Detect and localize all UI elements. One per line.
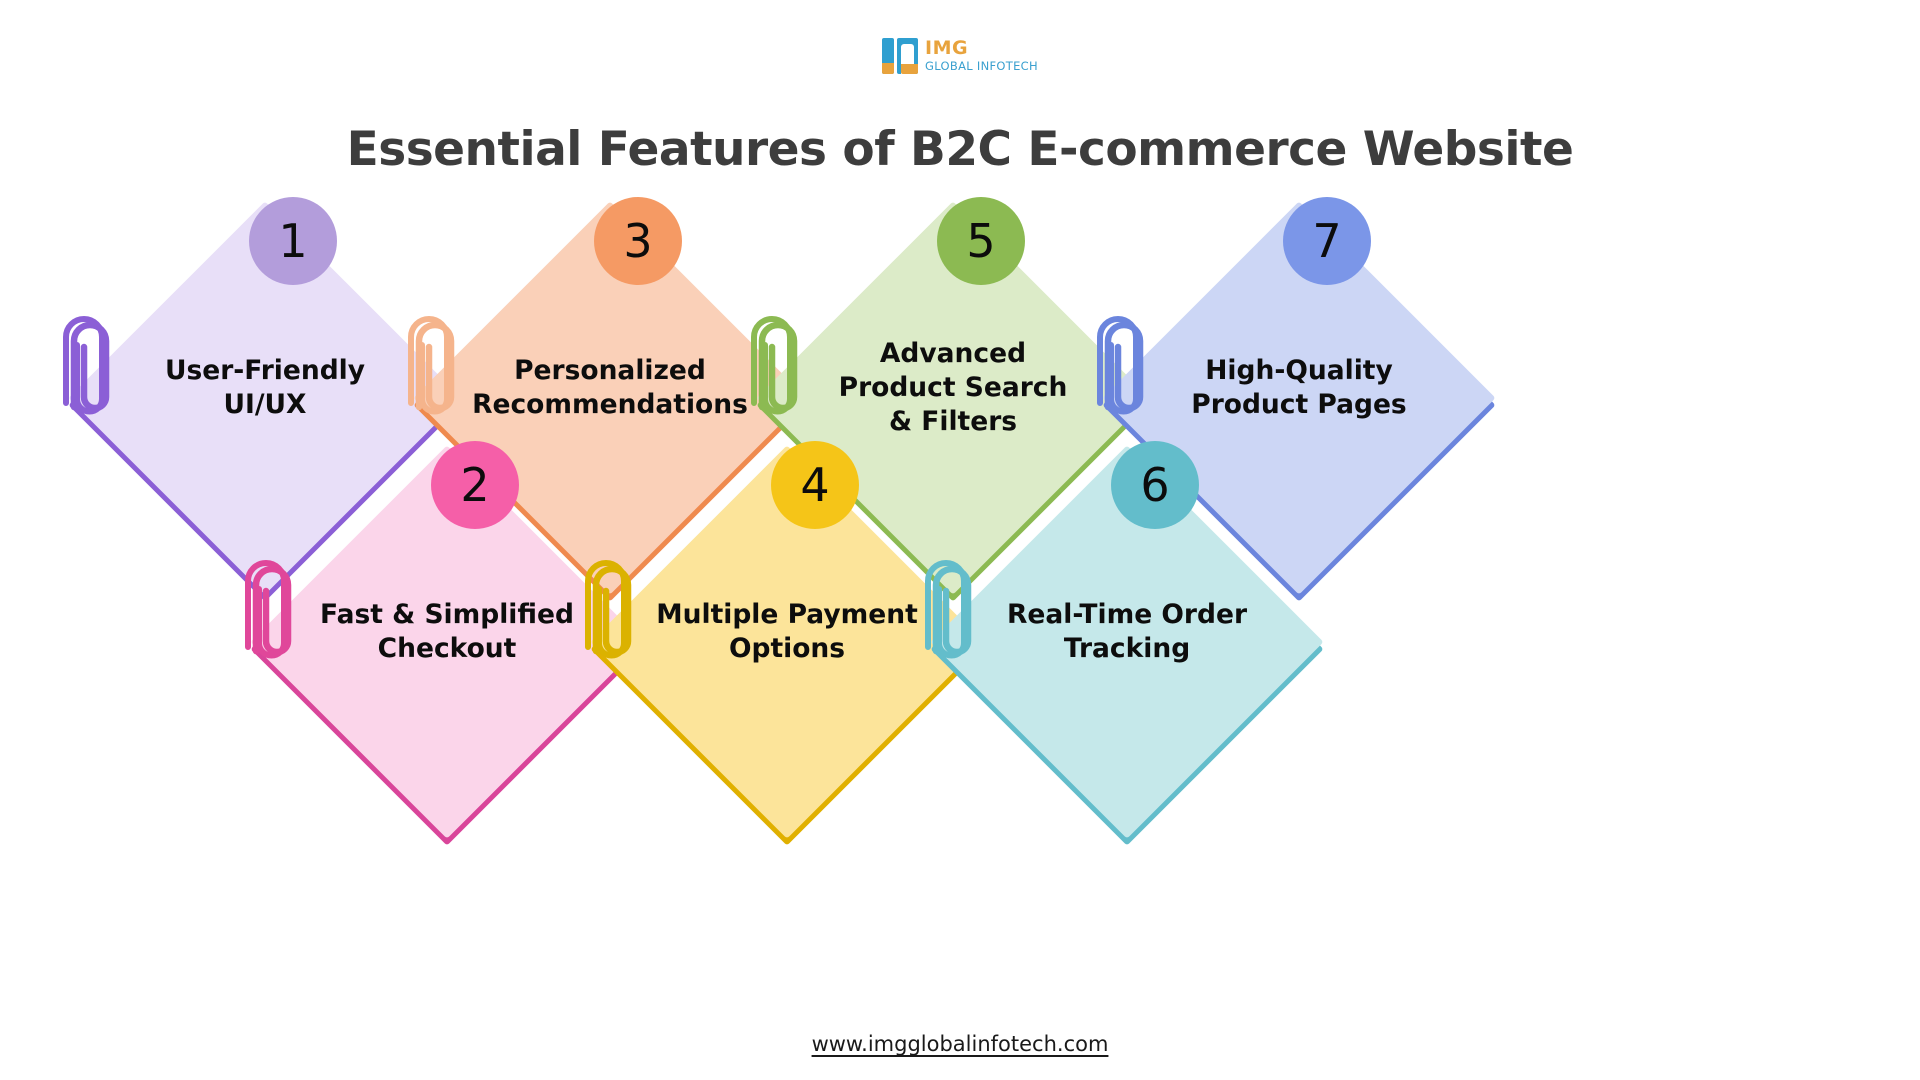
brand-name: IMG bbox=[925, 39, 1038, 58]
card-number-badge: 5 bbox=[937, 197, 1025, 285]
card-label: Advanced Product Search & Filters bbox=[803, 337, 1103, 439]
brand-tagline: GLOBAL INFOTECH bbox=[925, 61, 1038, 73]
infographic-canvas: IMG GLOBAL INFOTECH Essential Features o… bbox=[0, 0, 1920, 1080]
card-number: 3 bbox=[623, 214, 652, 268]
card-number: 4 bbox=[800, 458, 829, 512]
card-number: 7 bbox=[1312, 214, 1341, 268]
img-global-infotech-logo-icon bbox=[882, 38, 918, 74]
brand-logo: IMG GLOBAL INFOTECH bbox=[0, 38, 1920, 74]
card-number-badge: 2 bbox=[431, 441, 519, 529]
website-url-link[interactable]: www.imgglobalinfotech.com bbox=[0, 1032, 1920, 1056]
paperclip-icon bbox=[399, 311, 463, 435]
paperclip-icon bbox=[236, 555, 300, 679]
card-label: Multiple Payment Options bbox=[637, 598, 937, 666]
card-number-badge: 7 bbox=[1283, 197, 1371, 285]
card-label: Fast & Simplified Checkout bbox=[297, 598, 597, 666]
page-title: Essential Features of B2C E-commerce Web… bbox=[0, 122, 1920, 177]
paperclip-icon bbox=[1088, 311, 1152, 435]
card-number-badge: 6 bbox=[1111, 441, 1199, 529]
paperclip-icon bbox=[54, 311, 118, 435]
card-number-badge: 4 bbox=[771, 441, 859, 529]
feature-card-4[interactable]: 4 Multiple Payment Options bbox=[648, 503, 926, 781]
card-number-badge: 1 bbox=[249, 197, 337, 285]
feature-card-7[interactable]: 7 High-Quality Product Pages bbox=[1160, 259, 1438, 537]
card-number: 6 bbox=[1140, 458, 1169, 512]
card-label: High-Quality Product Pages bbox=[1149, 354, 1449, 422]
paperclip-icon bbox=[742, 311, 806, 435]
feature-card-6[interactable]: 6 Real-Time Order Tracking bbox=[988, 503, 1266, 781]
brand-logo-text: IMG GLOBAL INFOTECH bbox=[925, 39, 1038, 73]
card-number: 1 bbox=[278, 214, 307, 268]
card-number: 2 bbox=[460, 458, 489, 512]
card-label: User-Friendly UI/UX bbox=[115, 354, 415, 422]
card-number: 5 bbox=[966, 214, 995, 268]
paperclip-icon bbox=[916, 555, 980, 679]
card-label: Real-Time Order Tracking bbox=[977, 598, 1277, 666]
card-number-badge: 3 bbox=[594, 197, 682, 285]
paperclip-icon bbox=[576, 555, 640, 679]
card-label: Personalized Recommendations bbox=[460, 354, 760, 422]
feature-card-2[interactable]: 2 Fast & Simplified Checkout bbox=[308, 503, 586, 781]
feature-card-1[interactable]: 1 User-Friendly UI/UX bbox=[126, 259, 404, 537]
